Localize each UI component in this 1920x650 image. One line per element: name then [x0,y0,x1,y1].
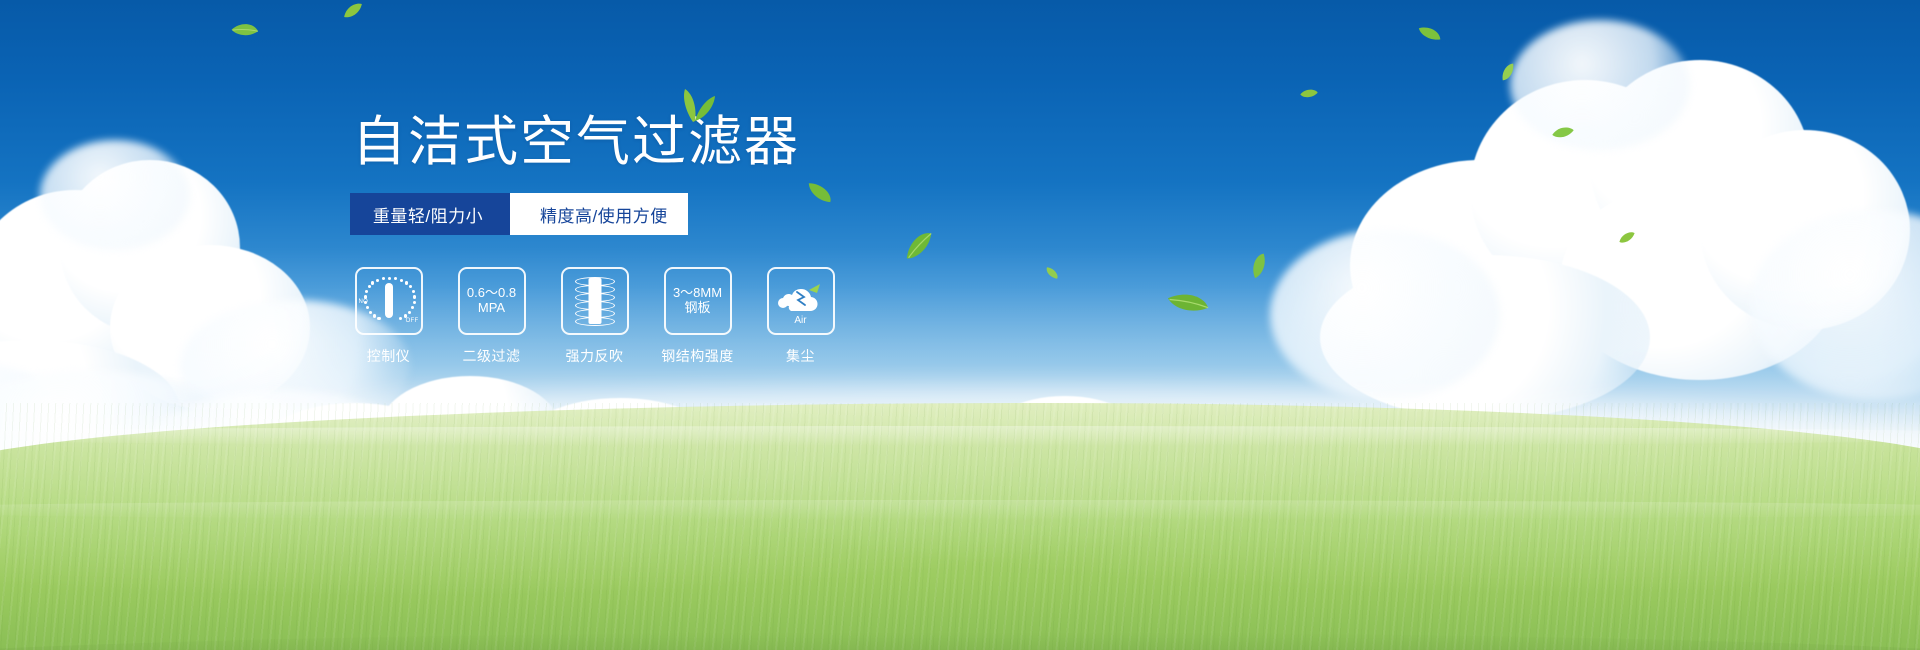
cloud-air-icon: Air [773,277,829,325]
feature-value-line2: MPA [478,301,505,316]
tab-weight-resistance[interactable]: 重量轻/阻力小 [350,193,510,235]
feature-list: NO OFF 控制仪 0.6～0.8 MPA 二级过滤 [350,267,839,366]
feature-label: 钢结构强度 [661,346,734,366]
feature-tabs: 重量轻/阻力小 精度高/使用方便 [350,193,688,235]
title-leaf-icon [672,88,716,127]
tab-label: 精度高/使用方便 [540,202,668,227]
feature-item-steel-strength[interactable]: 3～8MM 钢板 钢结构强度 [659,267,736,366]
page-title: 自洁式空气过滤器 [352,115,800,169]
gauge-max-label: OFF [406,318,419,325]
feature-item-filtration[interactable]: 0.6～0.8 MPA 二级过滤 [453,267,530,366]
product-banner: 自洁式空气过滤器 重量轻/阻力小 精度高/使用方便 [0,0,1920,650]
feature-label: 控制仪 [367,346,411,366]
feature-label: 二级过滤 [463,346,521,366]
cloud-shape-icon [775,284,827,318]
feature-icon-box: NO OFF [355,267,423,335]
tab-precision-convenience[interactable]: 精度高/使用方便 [510,193,688,235]
air-label: Air [773,315,829,326]
feature-item-controller[interactable]: NO OFF 控制仪 [350,267,427,366]
feature-icon-box: Air [767,267,835,335]
gauge-min-label: NO [359,299,369,306]
feature-label: 强力反吹 [566,346,624,366]
feature-item-dust-collection[interactable]: Air 集尘 [762,267,839,366]
feature-icon-box: 3～8MM 钢板 [664,267,732,335]
coil-filter-icon [572,276,618,326]
feature-label: 集尘 [786,346,815,366]
feature-icon-box [561,267,629,335]
gauge-icon: NO OFF [363,275,415,327]
feature-icon-box: 0.6～0.8 MPA [458,267,526,335]
feature-value-line1: 0.6～0.8 [467,286,516,301]
feature-value-line2: 钢板 [684,301,710,316]
feature-value-line1: 3～8MM [673,286,722,301]
gauge-needle-icon [385,283,393,317]
tab-label: 重量轻/阻力小 [373,202,483,227]
banner-content: 自洁式空气过滤器 重量轻/阻力小 精度高/使用方便 [0,0,1920,650]
feature-item-blowback[interactable]: 强力反吹 [556,267,633,366]
